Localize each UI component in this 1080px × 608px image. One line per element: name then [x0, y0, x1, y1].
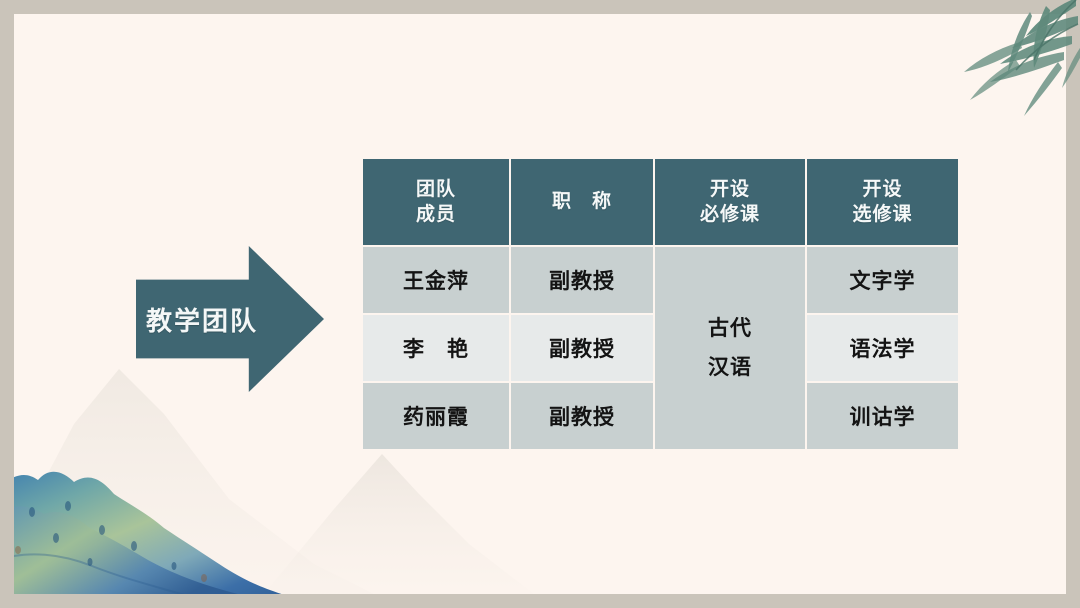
header-cell-required: 开设 必修课: [655, 159, 805, 245]
cell-member: 李 艳: [363, 315, 509, 381]
header-member-line1: 团队: [363, 177, 509, 202]
cell-elective: 训诂学: [807, 383, 958, 449]
slide-canvas: 教学团队 团队 成员 职 称 开设 必修课: [0, 0, 1080, 608]
callout-label: 教学团队: [136, 246, 254, 392]
header-elective-line1: 开设: [807, 177, 958, 202]
cell-title: 副教授: [511, 247, 653, 313]
cell-member: 药丽霞: [363, 383, 509, 449]
cell-required-course: 古代 汉语: [655, 247, 805, 449]
teaching-team-callout: 教学团队: [136, 246, 324, 392]
required-course-line1: 古代: [655, 309, 805, 348]
table-header-row: 团队 成员 职 称 开设 必修课 开设 选修课: [363, 159, 958, 245]
header-cell-elective: 开设 选修课: [807, 159, 958, 245]
header-required-line2: 必修课: [655, 202, 805, 227]
header-elective-line2: 选修课: [807, 202, 958, 227]
cell-elective: 文字学: [807, 247, 958, 313]
header-cell-member: 团队 成员: [363, 159, 509, 245]
required-course-line2: 汉语: [655, 348, 805, 387]
cell-title: 副教授: [511, 315, 653, 381]
watercolor-mountain-decoration: [14, 410, 288, 594]
table-row: 王金萍 副教授 古代 汉语 文字学: [363, 247, 958, 313]
cell-elective: 语法学: [807, 315, 958, 381]
cell-member: 王金萍: [363, 247, 509, 313]
header-title-line1: 职 称: [511, 189, 653, 214]
cell-title: 副教授: [511, 383, 653, 449]
header-cell-title: 职 称: [511, 159, 653, 245]
header-member-line2: 成员: [363, 202, 509, 227]
team-table-wrap: 团队 成员 职 称 开设 必修课 开设 选修课: [361, 157, 952, 450]
header-required-line1: 开设: [655, 177, 805, 202]
team-table: 团队 成员 职 称 开设 必修课 开设 选修课: [361, 157, 960, 451]
